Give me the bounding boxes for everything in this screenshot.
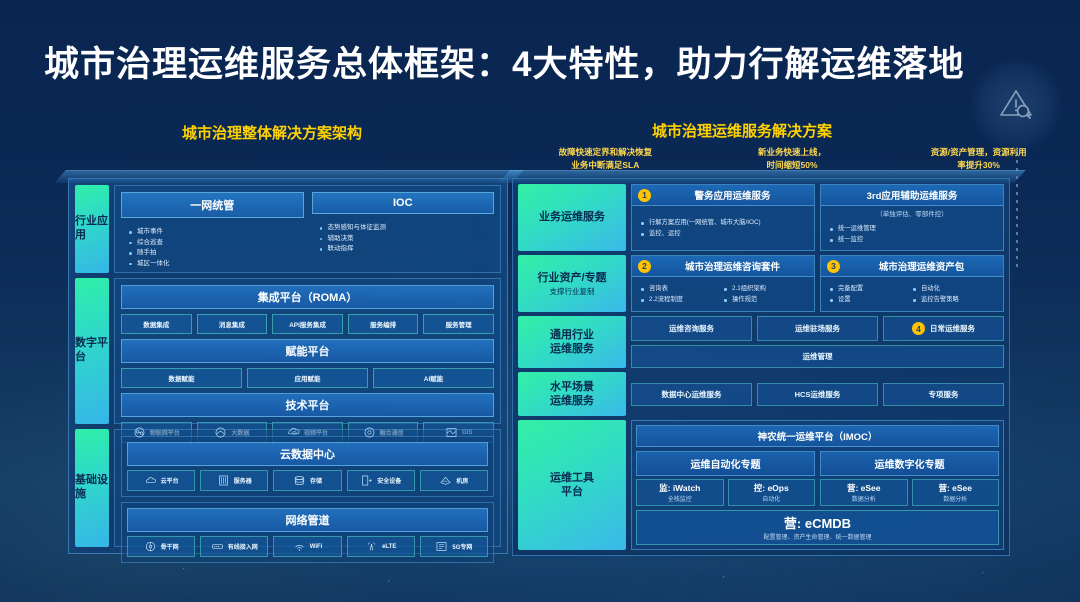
row-business-ops: 业务运维服务 1 警务应用运维服务 行解方案应用(一网统管、城市大脑/IOC) … [518,184,1004,251]
list-item: 综合巡查 [137,238,304,249]
row-industry-assets: 行业资产/专题 支撑行业复制 2 城市治理运维咨询套件 咨询表 2.1组织架构 … [518,255,1004,312]
benefit-captions: 故障快速定界和解决恢复业务中断满足SLA 新业务快速上线，时间缩短50% 资源/… [512,146,1072,172]
row-label-text: 行业资产/专题 [537,271,606,285]
chip-wifi[interactable]: WiFi [273,536,341,557]
benefit-item-1: 故障快速定界和解决恢复业务中断满足SLA [512,146,699,172]
chip-ops-management[interactable]: 运维管理 [631,345,1004,368]
chip-label: 存储 [310,476,322,485]
chip-label: WiFi [310,544,323,550]
row-label-text: 业务运维服务 [539,210,605,224]
service-box-consulting-kit[interactable]: 2 城市治理运维咨询套件 咨询表 2.1组织架构 2.2流程制度 操作规范 [631,255,815,312]
chip[interactable]: API服务集成 [272,314,343,334]
badge-number: 4 [912,322,925,335]
layer-digital-platform: 数字平台 集成平台（ROMA） 数据集成 消息集成 API服务集成 服务编排 服… [75,278,501,424]
imoc-platform: 神农统一运维平台（IMOC） 运维自动化专题 监: iWatch 全栈监控 控:… [631,420,1004,550]
list-item: 城区一体化 [137,259,304,270]
list-item: 行解方案应用(一网统管、城市大脑/IOC) [640,217,806,228]
tool-desc: 数据分析 [914,494,998,503]
tool-desc: 配置管理、资产生命管理、统一数据管理 [637,532,998,541]
row-label-industry-assets: 行业资产/专题 支撑行业复制 [518,255,626,312]
row-label-horizontal-ops: 水平场景运维服务 [518,372,626,416]
layer-infrastructure: 基础设施 云数据中心 云平台 服务器 [75,429,501,547]
service-box-note: （单独评估、零部件控） [821,206,1003,218]
group-head-cloud-datacenter: 云数据中心 [127,442,488,466]
chip[interactable]: 数据集成 [121,314,192,334]
chip-elte[interactable]: eLTE [347,536,415,557]
theme-title: 运维自动化专题 [636,451,815,476]
service-box-asset-pack[interactable]: 3 城市治理运维资产包 完备配置 自动化 设置 监控告警策略 [820,255,1004,312]
network-icon-row: 骨干网 有线接入网 WiFi eLTE [127,536,488,557]
service-box-title: 城市治理运维咨询套件 [657,259,808,273]
chip-wired-access[interactable]: 有线接入网 [200,536,268,557]
chip-label: 日常运维服务 [930,323,975,334]
chip-label: 5G专网 [452,542,472,551]
list-item: 咨询表 [640,283,723,294]
chip-cloud-platform[interactable]: 云平台 [127,470,195,491]
tool-ecmdb[interactable]: 营: eCMDB 配置管理、资产生命管理、统一数据管理 [636,510,999,545]
list-item: 监控告警策略 [912,294,995,305]
layer-label-industry-application: 行业应用 [75,185,109,273]
tool-name: 营: eCMDB [637,513,998,532]
service-box-title: 3rd应用辅助运维服务 [827,188,997,202]
list-item: 态势感知与体征监测 [328,223,495,234]
badge-number: 3 [827,260,840,273]
chip-special-service[interactable]: 专项服务 [883,383,1004,406]
chip[interactable]: 数据赋能 [121,368,242,388]
theme-automation: 运维自动化专题 监: iWatch 全栈监控 控: eOps 自动化 [636,451,815,506]
layer-label-infrastructure: 基础设施 [75,429,109,547]
benefit-item-3: 资源/资产管理，资源利用率提升30% [885,146,1072,172]
chip-label: eLTE [382,544,396,550]
app-bullets: 城市事件 综合巡查 随手拍 城区一体化 [121,222,304,269]
service-bullets: 完备配置 自动化 设置 监控告警策略 [821,277,1003,311]
chip-label: 服务器 [234,476,252,485]
tool-row: 监: iWatch 全栈监控 控: eOps 自动化 [636,479,815,506]
cloud-icon [144,474,157,487]
service-box-police-app[interactable]: 1 警务应用运维服务 行解方案应用(一网统管、城市大脑/IOC) 监控、运控 [631,184,815,251]
bigdata-icon [214,426,227,439]
row-label-text: 通用行业运维服务 [550,328,594,357]
row-label-tool-platform: 运维工具平台 [518,420,626,550]
gis-icon [445,426,458,439]
imoc-theme-row: 运维自动化专题 监: iWatch 全栈监控 控: eOps 自动化 [636,451,999,506]
chip[interactable]: 服务编排 [348,314,419,334]
app-bullets: 态势感知与体征监测 辅助决策 联动指挥 [312,218,495,266]
app-card-head: 一网统管 [121,192,304,218]
tool-desc: 全栈监控 [638,494,722,503]
general-ops-chip-row: 运维咨询服务 运维驻场服务 4 日常运维服务 [631,316,1004,341]
benefit-item-2: 新业务快速上线，时间缩短50% [699,146,886,172]
theme-title: 运维数字化专题 [820,451,999,476]
row-label-business-ops: 业务运维服务 [518,184,626,251]
tool-esee-2[interactable]: 营: eSee 数据分析 [912,479,1000,506]
server-icon [217,474,230,487]
row-label-general-ops: 通用行业运维服务 [518,316,626,368]
service-bullets: 统一运维管理 统一监控 [821,218,1003,250]
tool-iwatch[interactable]: 监: iWatch 全栈监控 [636,479,724,506]
list-item: 随手拍 [137,248,304,259]
chip-ops-onsite[interactable]: 运维驻场服务 [757,316,878,341]
cloud-icon-row: 云平台 服务器 存储 安全设备 [127,470,488,491]
chip-server[interactable]: 服务器 [200,470,268,491]
iot-icon [133,426,146,439]
layer-industry-application: 行业应用 一网统管 城市事件 综合巡查 随手拍 城区一体化 IOC [75,185,501,273]
group-head-technical: 技术平台 [121,393,494,417]
service-box-head: 1 警务应用运维服务 [632,185,814,206]
service-box-title: 警务应用运维服务 [657,188,808,202]
tool-eops[interactable]: 控: eOps 自动化 [728,479,816,506]
chip-ops-consulting[interactable]: 运维咨询服务 [631,316,752,341]
list-item: 设置 [829,294,912,305]
left-architecture-panel: 行业应用 一网统管 城市事件 综合巡查 随手拍 城区一体化 IOC [68,178,508,554]
page-title: 城市治理运维服务总体框架：4大特性，助力行解运维落地 [44,36,964,87]
badge-number: 1 [638,189,651,202]
list-item: 统一运维管理 [829,223,995,234]
chip-hcs-ops[interactable]: HCS运维服务 [757,383,878,406]
group-head-enablement: 赋能平台 [121,339,494,363]
tool-name: 监: iWatch [638,482,722,494]
tool-name: 营: eSee [914,482,998,494]
service-box-head: 3 城市治理运维资产包 [821,256,1003,277]
chip-label: 有线接入网 [228,542,258,551]
list-item: 联动指挥 [328,244,495,255]
roma-chip-row: 数据集成 消息集成 API服务集成 服务编排 服务管理 [121,314,494,334]
tool-desc: 数据分析 [822,494,906,503]
tool-esee-1[interactable]: 营: eSee 数据分析 [820,479,908,506]
list-item: 自动化 [912,283,995,294]
datahall-icon [439,474,452,487]
imoc-title: 神农统一运维平台（IMOC） [636,425,999,447]
service-box-3rd-app[interactable]: 3rd应用辅助运维服务 （单独评估、零部件控） 统一运维管理 统一监控 [820,184,1004,251]
group-head-roma: 集成平台（ROMA） [121,285,494,309]
enablement-chip-row: 数据赋能 应用赋能 AI赋能 [121,368,494,388]
group-cloud-datacenter: 云数据中心 云平台 服务器 存储 [121,436,494,497]
service-bullets: 行解方案应用(一网统管、城市大脑/IOC) 监控、运控 [632,206,814,250]
chip[interactable]: 消息集成 [197,314,268,334]
chip-datahall[interactable]: 机房 [420,470,488,491]
badge-number: 2 [638,260,651,273]
chip-label: 安全设备 [377,476,401,485]
chip[interactable]: 应用赋能 [247,368,368,388]
list-item: 操作规范 [723,294,806,305]
list-item: 辅助决策 [328,234,495,245]
chip-security-device[interactable]: 安全设备 [347,470,415,491]
chip-backbone[interactable]: 骨干网 [127,536,195,557]
elte-icon [365,540,378,553]
row-label-sub: 支撑行业复制 [550,287,595,297]
list-item: 统一监控 [829,234,995,245]
service-box-title: 城市治理运维资产包 [846,259,997,273]
app-card-head: IOC [312,192,495,214]
wifi-icon [293,540,306,553]
group-network-pipeline: 网络管道 骨干网 有线接入网 WiFi [121,502,494,563]
list-item: 2.1组织架构 [723,283,806,294]
list-item: 2.2流程制度 [640,294,723,305]
chip-5g-network[interactable]: 5G专网 [420,536,488,557]
list-item: 监控、运控 [640,228,806,239]
group-head-network: 网络管道 [127,508,488,532]
wired-icon [211,540,224,553]
row-label-text: 运维工具平台 [550,471,594,500]
tool-row: 营: eSee 数据分析 营: eSee 数据分析 [820,479,999,506]
right-service-panel: 业务运维服务 1 警务应用运维服务 行解方案应用(一网统管、城市大脑/IOC) … [512,178,1010,556]
app-card-ioc[interactable]: IOC 态势感知与体征监测 辅助决策 联动指挥 [312,192,495,266]
security-icon [360,474,373,487]
warning-magnifier-icon [993,81,1039,127]
chip[interactable]: 服务管理 [423,314,494,334]
chip-datacenter-ops[interactable]: 数据中心运维服务 [631,383,752,406]
service-box-head: 3rd应用辅助运维服务 [821,185,1003,206]
tool-name: 控: eOps [730,482,814,494]
chip-label: 骨干网 [161,542,179,551]
row-horizontal-scenario-ops: 水平场景运维服务 数据中心运维服务 HCS运维服务 专项服务 [518,372,1004,416]
chip-ops-daily[interactable]: 4 日常运维服务 [883,316,1004,341]
tool-name: 营: eSee [822,482,906,494]
fiveg-icon [435,540,448,553]
chip[interactable]: AI赋能 [373,368,494,388]
row-ops-tool-platform: 运维工具平台 神农统一运维平台（IMOC） 运维自动化专题 监: iWatch … [518,420,1004,550]
chip-label: 机房 [456,476,468,485]
horizontal-ops-chip-row: 数据中心运维服务 HCS运维服务 专项服务 [631,383,1004,406]
video-icon [287,426,300,439]
layer-label-digital-platform: 数字平台 [75,278,109,424]
chip-label: 云平台 [161,476,179,485]
service-bullets: 咨询表 2.1组织架构 2.2流程制度 操作规范 [632,277,814,311]
backbone-icon [144,540,157,553]
right-column-title: 城市治理运维服务解决方案 [652,120,832,141]
theme-digitalization: 运维数字化专题 营: eSee 数据分析 营: eSee 数据分析 [820,451,999,506]
row-general-industry-ops: 通用行业运维服务 运维咨询服务 运维驻场服务 4 日常运维服务 运维管理 [518,316,1004,368]
list-item: 完备配置 [829,283,912,294]
left-column-title: 城市治理整体解决方案架构 [182,122,362,143]
row-label-text: 水平场景运维服务 [550,380,594,409]
storage-icon [293,474,306,487]
list-item: 城市事件 [137,227,304,238]
chip-storage[interactable]: 存储 [273,470,341,491]
alert-search-badge [970,58,1062,150]
service-box-head: 2 城市治理运维咨询套件 [632,256,814,277]
tool-desc: 自动化 [730,494,814,503]
comms-icon [363,426,376,439]
app-card-one-network[interactable]: 一网统管 城市事件 综合巡查 随手拍 城区一体化 [121,192,304,266]
